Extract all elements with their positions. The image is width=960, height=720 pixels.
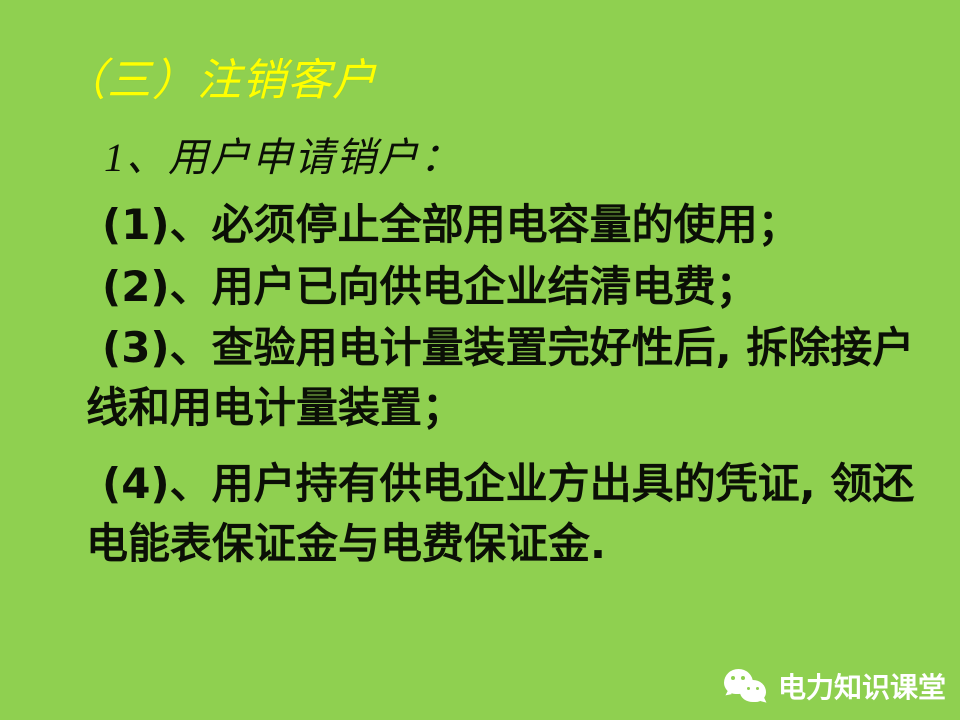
list-item-marker: (3)、 — [102, 323, 212, 372]
watermark-label: 电力知识课堂 — [778, 674, 946, 702]
slide-body: 1、用户申请销户： (1)、必须停止全部用电容量的使用； (2)、用户已向供电企… — [0, 128, 960, 574]
watermark: 电力知识课堂 — [724, 668, 946, 708]
slide-canvas: （三）注销客户 1、用户申请销户： (1)、必须停止全部用电容量的使用； (2)… — [0, 0, 960, 720]
list-item-marker: (2)、 — [102, 262, 212, 311]
list-item: (2)、用户已向供电企业结清电费； — [0, 256, 946, 318]
wechat-icon — [724, 668, 770, 708]
spacer — [0, 438, 960, 454]
list-item: (3)、查验用电计量装置完好性后, 拆除接户线和用电计量装置； — [0, 318, 946, 438]
wechat-eye — [731, 676, 735, 680]
wechat-eye — [747, 687, 750, 690]
wechat-eye — [756, 687, 759, 690]
list-item-marker: (1)、 — [102, 200, 212, 249]
wechat-bubble-small-tail — [759, 695, 767, 704]
list-item-text: 用户已向供电企业结清电费； — [212, 262, 758, 311]
list-item: (4)、用户持有供电企业方出具的凭证, 领还电能表保证金与电费保证金. — [0, 454, 946, 574]
list-item: (1)、必须停止全部用电容量的使用； — [0, 194, 946, 256]
list-item-marker: (4)、 — [102, 459, 212, 508]
wechat-eye — [741, 676, 745, 680]
body-heading: 1、用户申请销户： — [0, 128, 960, 188]
list-item-text: 必须停止全部用电容量的使用； — [212, 200, 800, 249]
page-title: （三）注销客户 — [62, 58, 377, 104]
